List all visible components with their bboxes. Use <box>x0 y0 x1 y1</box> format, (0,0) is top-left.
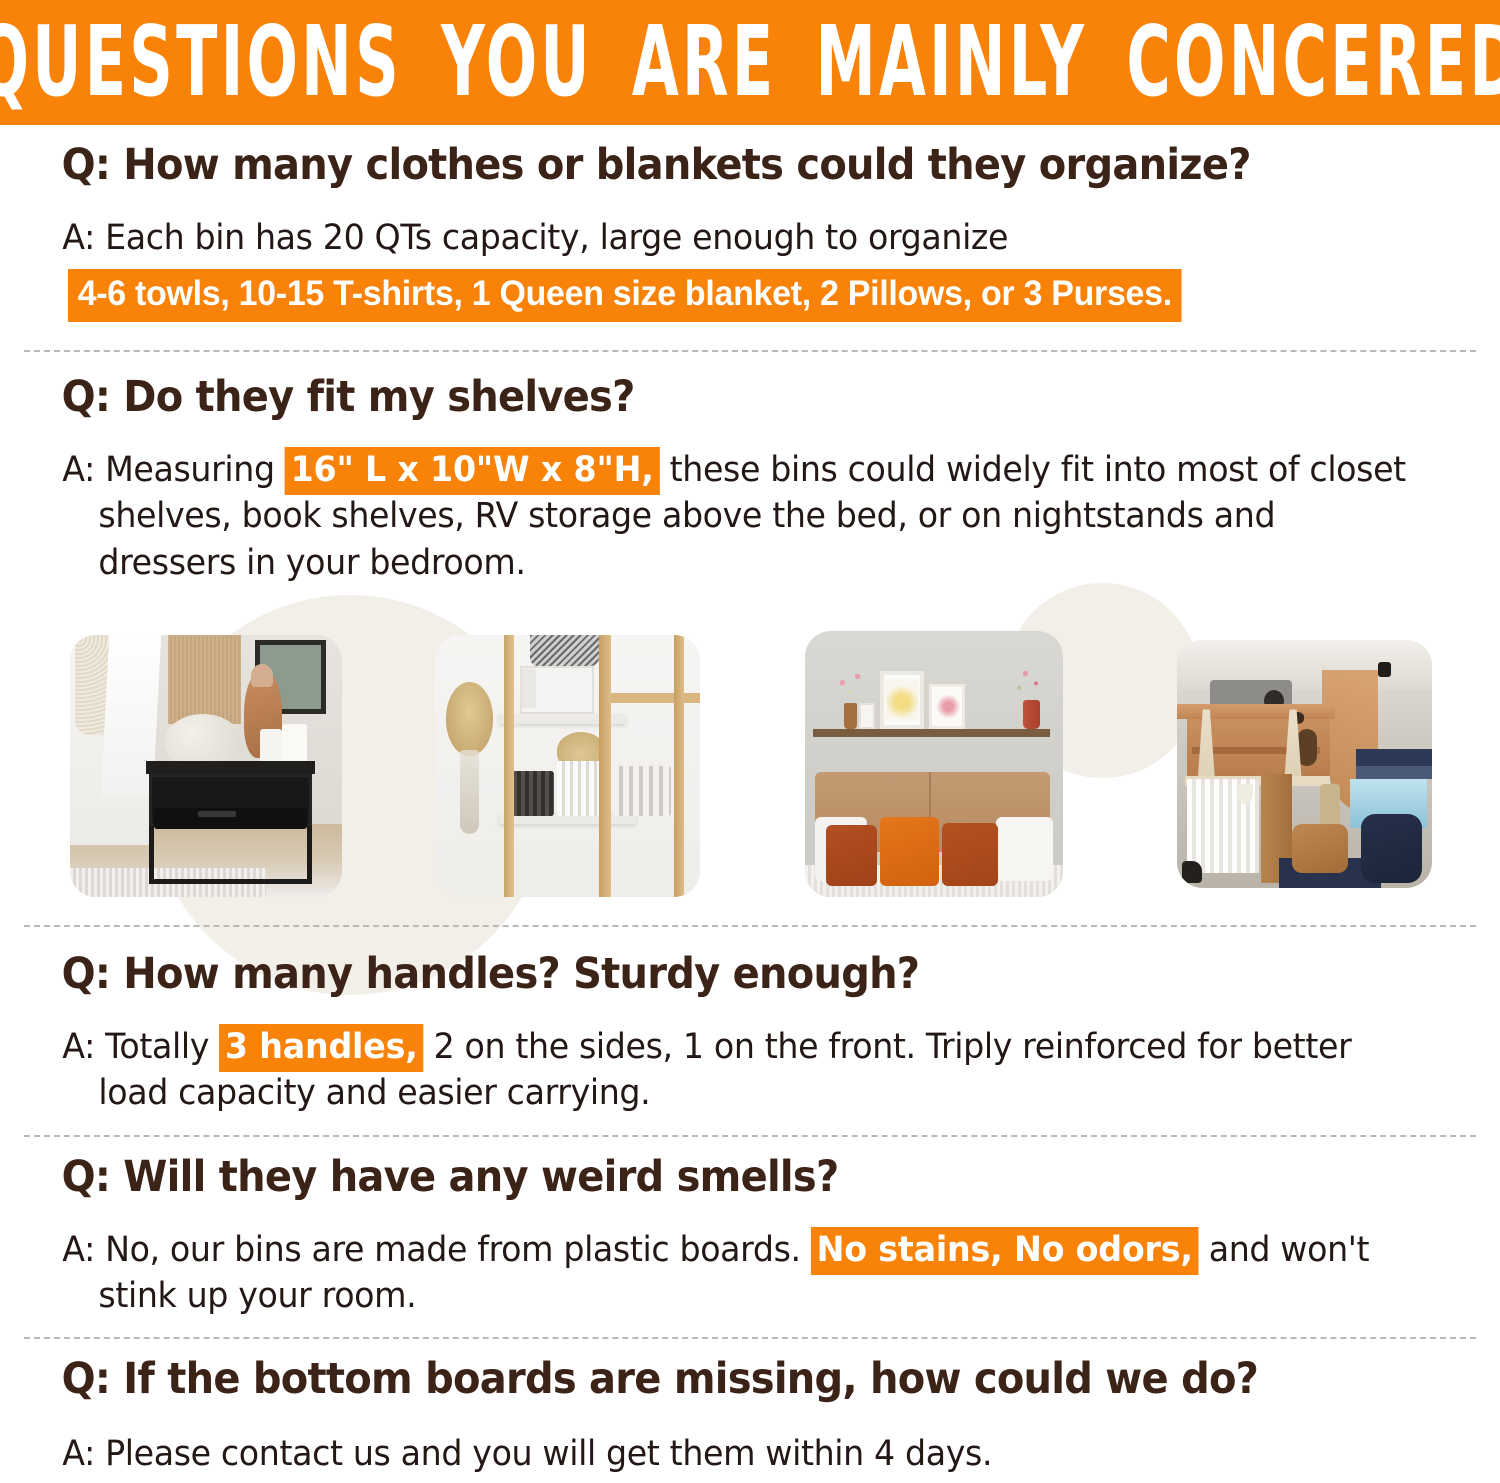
faq-answer-text-before: A: Totally <box>62 1027 219 1067</box>
faq-answer-text: dressers in your bedroom. <box>98 543 525 583</box>
faq-answer: A: Totally 3 handles, 2 on the sides, 1 … <box>30 1024 1459 1071</box>
section-divider <box>24 1135 1476 1137</box>
faq-answer-text: A: Each bin has 20 QTs capacity, large e… <box>62 218 1008 258</box>
photo-gallery <box>0 623 1500 903</box>
faq-answer-text: shelves, book shelves, RV storage above … <box>98 496 1275 536</box>
faq-answer-text: A: Please contact us and you will get th… <box>62 1434 992 1474</box>
faq-answer-text-before: A: No, our bins are made from plastic bo… <box>62 1230 811 1270</box>
faq-answer-text-before: A: Measuring <box>62 450 285 490</box>
faq-question: Q: If the bottom boards are missing, how… <box>30 1357 1369 1403</box>
section-divider <box>24 925 1476 927</box>
faq-answer-line3: dressers in your bedroom. <box>30 540 1459 587</box>
faq-answer: A: No, our bins are made from plastic bo… <box>30 1227 1459 1274</box>
faq-answer-line2: stink up your room. <box>30 1273 1459 1320</box>
faq-question: Q: Do they fit my shelves? <box>30 375 1369 421</box>
faq-answer: A: Measuring 16" L x 10"W x 8"H, these b… <box>30 447 1459 494</box>
faq-item-handles: Q: How many handles? Sturdy enough? A: T… <box>0 952 1500 1117</box>
faq-item-capacity: Q: How many clothes or blankets could th… <box>0 143 1500 322</box>
faq-answer-highlight: 4-6 towls, 10-15 T-shirts, 1 Queen size … <box>68 269 1182 322</box>
faq-item-smells: Q: Will they have any weird smells? A: N… <box>0 1155 1500 1320</box>
photo-bedroom-shelf <box>805 631 1063 897</box>
faq-item-dimensions: Q: Do they fit my shelves? A: Measuring … <box>0 375 1500 586</box>
faq-answer-highlight: 16" L x 10"W x 8"H, <box>285 447 660 495</box>
faq-answer-highlight: No stains, No odors, <box>811 1227 1199 1275</box>
page-banner: QUESTIONS YOU ARE MAINLY CONCERED <box>0 0 1500 125</box>
faq-answer: A: Each bin has 20 QTs capacity, large e… <box>30 215 1459 262</box>
photo-shelf-unit-scene <box>435 635 700 897</box>
faq-question: Q: Will they have any weird smells? <box>30 1155 1369 1201</box>
faq-content: Q: How many clothes or blankets could th… <box>0 125 1500 1483</box>
photo-rv-storage-scene <box>1177 640 1432 888</box>
photo-shelf-unit <box>435 635 700 897</box>
faq-answer-line2: load capacity and easier carrying. <box>30 1070 1459 1117</box>
banner-title: QUESTIONS YOU ARE MAINLY CONCERED <box>0 14 1500 111</box>
faq-question: Q: How many clothes or blankets could th… <box>30 143 1369 189</box>
photo-nightstand-scene <box>70 635 342 897</box>
photo-bedroom-shelf-scene <box>805 631 1063 897</box>
faq-answer-text-after: and won't <box>1199 1230 1370 1270</box>
faq-answer-text: stink up your room. <box>98 1276 416 1316</box>
faq-question: Q: How many handles? Sturdy enough? <box>30 952 1369 998</box>
photo-nightstand <box>70 635 342 897</box>
faq-answer-text: load capacity and easier carrying. <box>98 1073 650 1113</box>
section-divider <box>24 1337 1476 1339</box>
faq-answer-line2: shelves, book shelves, RV storage above … <box>30 493 1459 540</box>
faq-answer: A: Please contact us and you will get th… <box>30 1431 1459 1478</box>
faq-answer-text-after: 2 on the sides, 1 on the front. Triply r… <box>423 1027 1351 1067</box>
faq-answer-text-after: these bins could widely fit into most of… <box>659 450 1405 490</box>
photo-rv-storage <box>1177 640 1432 888</box>
section-divider <box>24 350 1476 352</box>
faq-item-bottom-boards: Q: If the bottom boards are missing, how… <box>0 1357 1500 1477</box>
faq-answer-highlight: 3 handles, <box>219 1024 423 1072</box>
